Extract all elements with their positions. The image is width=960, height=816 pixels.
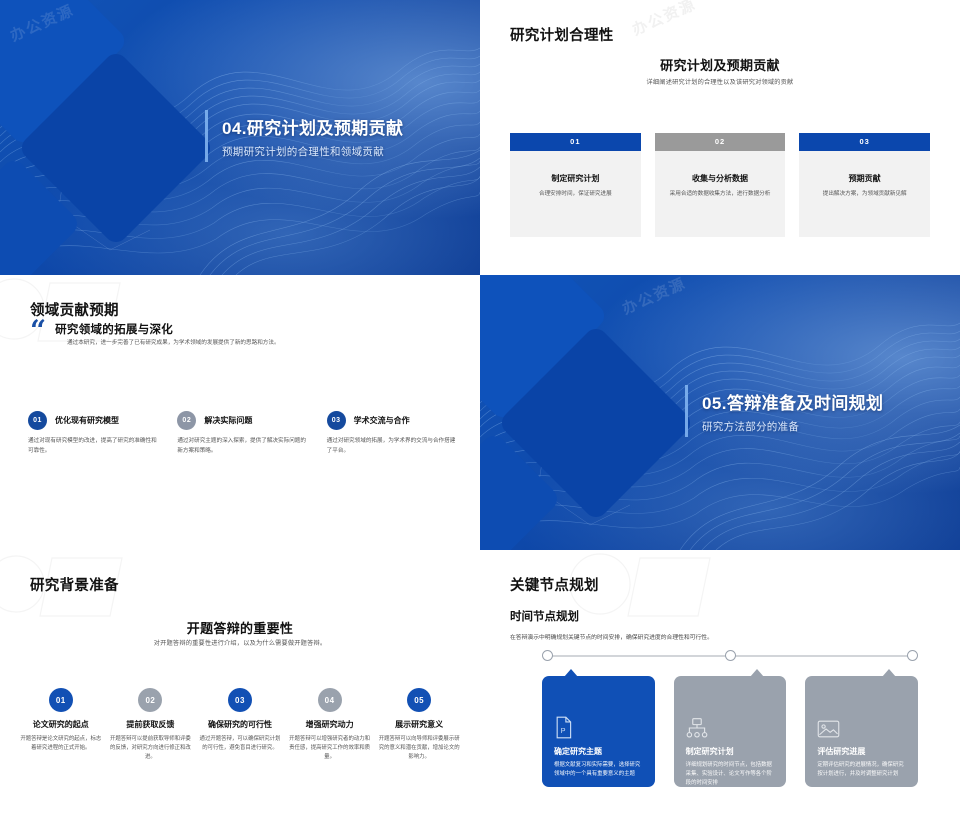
item-desc: 通过对研究主题的深入探索，提供了解决实际问题的新方案和策略。 (177, 437, 308, 457)
card-title: 预期贡献 (809, 173, 920, 184)
background-item[interactable]: 01 论文研究的起点 开题答辩是论文研究的起点，标志着研究进程的正式开始。 (20, 688, 102, 763)
item-number-badge: 05 (407, 688, 431, 712)
quote-block: “ 研究领域的拓展与深化 (30, 321, 173, 341)
page-kicker: 研究背景准备 (30, 574, 119, 595)
hierarchy-icon (686, 709, 775, 739)
card-desc: 根据文献复习和实际需要，选择研究领域中的一个具有重要意义的主题 (554, 761, 643, 779)
plan-card[interactable]: 01 制定研究计划 合理安排时间，保证研究进展 (510, 133, 641, 237)
card-desc: 详细规划研究的时间节点，包括数据采集、实验设计、论文写作等各个阶段的时间安排 (686, 761, 775, 788)
item-desc: 通过对研究领域的拓展，为学术界的交流与合作搭建了平台。 (327, 437, 458, 457)
item-head: 03 学术交流与合作 (327, 411, 458, 430)
card-desc: 合理安排时间，保证研究进展 (520, 190, 631, 198)
contribution-item-list: 01 优化现有研究模型 通过对现有研究模型的改进，提高了研究的准确性和可靠性。 … (28, 411, 458, 457)
item-desc: 开题答辩可以增强研究者的动力和责任感，提高研究工作的效率和质量。 (289, 735, 371, 763)
background-item-list: 01 论文研究的起点 开题答辩是论文研究的起点，标志着研究进程的正式开始。 02… (20, 688, 460, 763)
item-title: 展示研究意义 (378, 719, 460, 730)
card-desc: 提出解决方案，为领域贡献新见解 (809, 190, 920, 198)
timeline-card[interactable]: 评估研究进展 定期评估研究的进展情况，确保研究按计划进行，并及时调整研究计划 (805, 676, 918, 787)
image-icon (817, 709, 906, 739)
slide-key-milestones: 关键节点规划 时间节点规划 在答辩演示中明确规划关键节点的时间安排，确保研究进度… (480, 550, 960, 816)
card-pointer (564, 669, 578, 677)
item-desc: 开题答辩可以向导师和评委展示研究的意义和潜在贡献，增加论文的影响力。 (378, 735, 460, 763)
cover-title: 04.研究计划及预期贡献 (222, 114, 403, 139)
card-title: 制定研究计划 (520, 173, 631, 184)
cover-title-block: 04.研究计划及预期贡献 预期研究计划的合理性和领域贡献 (222, 114, 403, 159)
cover-title-block: 05.答辩准备及时间规划 研究方法部分的准备 (702, 389, 883, 434)
item-title: 增强研究动力 (289, 719, 371, 730)
item-title: 解决实际问题 (204, 415, 252, 426)
item-title: 学术交流与合作 (354, 415, 410, 426)
item-head: 02 解决实际问题 (177, 411, 308, 430)
page-subtitle: 在答辩演示中明确规划关键节点的时间安排，确保研究进度的合理性和可行性。 (510, 632, 713, 641)
card-number: 03 (799, 133, 930, 151)
item-desc: 通过对现有研究模型的改进，提高了研究的准确性和可靠性。 (28, 437, 159, 457)
timeline-card[interactable]: 制定研究计划 详细规划研究的时间节点，包括数据采集、实验设计、论文写作等各个阶段… (674, 676, 787, 787)
card-number: 01 (510, 133, 641, 151)
page-kicker: 研究计划合理性 (510, 24, 614, 45)
card-body: 制定研究计划 合理安排时间，保证研究进展 (510, 151, 641, 237)
timeline-dot[interactable] (542, 650, 553, 661)
page-kicker: 关键节点规划 (510, 574, 599, 595)
card-desc: 定期评估研究的进展情况，确保研究按计划进行，并及时调整研究计划 (817, 761, 906, 779)
card-title: 评估研究进展 (817, 746, 906, 757)
card-body: 收集与分析数据 采用合适的数据收集方法，进行数据分析 (655, 151, 786, 237)
plan-card[interactable]: 03 预期贡献 提出解决方案，为领域贡献新见解 (799, 133, 930, 237)
page-subtitle: 详细阐述研究计划的合理性以及该研究对领域的贡献 (480, 77, 960, 86)
page-title: 开题答辩的重要性 (0, 618, 480, 637)
page-title: 研究计划及预期贡献 (480, 55, 960, 74)
item-desc: 开题答辩是论文研究的起点，标志着研究进程的正式开始。 (20, 735, 102, 753)
watermark: 办公资源 (629, 0, 700, 40)
slide-research-plan: 办公资源 研究计划合理性 研究计划及预期贡献 详细阐述研究计划的合理性以及该研究… (480, 0, 960, 275)
slide-cover-04: 办公资源 04.研究计划及预期贡献 预期研究计划的合理性和领域贡献 (0, 0, 480, 275)
item-number-badge: 01 (49, 688, 73, 712)
slide-deck: 办公资源 04.研究计划及预期贡献 预期研究计划的合理性和领域贡献 办公资源 研… (0, 0, 960, 816)
item-number-badge: 04 (318, 688, 342, 712)
document-p-icon: P (554, 709, 643, 739)
quote-title: 研究领域的拓展与深化 (55, 321, 173, 337)
quote-icon: “ (30, 321, 46, 341)
item-number-badge: 02 (138, 688, 162, 712)
item-title: 优化现有研究模型 (55, 415, 119, 426)
item-number-badge: 03 (228, 688, 252, 712)
background-item[interactable]: 04 增强研究动力 开题答辩可以增强研究者的动力和责任感，提高研究工作的效率和质… (289, 688, 371, 763)
card-title: 确定研究主题 (554, 746, 643, 757)
page-subtitle: 对开题答辩的重要性进行介绍，以及为什么需要做开题答辩。 (0, 638, 480, 647)
plan-card-list: 01 制定研究计划 合理安排时间，保证研究进展 02 收集与分析数据 采用合适的… (510, 133, 930, 237)
item-title: 论文研究的起点 (20, 719, 102, 730)
slide-research-background: 研究背景准备 开题答辩的重要性 对开题答辩的重要性进行介绍，以及为什么需要做开题… (0, 550, 480, 816)
background-item[interactable]: 05 展示研究意义 开题答辩可以向导师和评委展示研究的意义和潜在贡献，增加论文的… (378, 688, 460, 763)
quote-description: 通过本研究，进一步完善了已有研究成果，为学术领域的发展提供了新的思路和方法。 (67, 339, 282, 349)
card-body: 预期贡献 提出解决方案，为领域贡献新见解 (799, 151, 930, 237)
slide-cover-05: 办公资源 05.答辩准备及时间规划 研究方法部分的准备 (480, 275, 960, 550)
item-number-badge: 02 (177, 411, 196, 430)
cover-subtitle: 研究方法部分的准备 (702, 419, 883, 434)
item-number-badge: 03 (327, 411, 346, 430)
item-head: 01 优化现有研究模型 (28, 411, 159, 430)
title-accent-bar (685, 385, 688, 437)
contribution-item[interactable]: 02 解决实际问题 通过对研究主题的深入探索，提供了解决实际问题的新方案和策略。 (177, 411, 308, 457)
item-desc: 通过开题答辩，可以确保研究计划的可行性，避免盲目进行研究。 (199, 735, 281, 753)
card-title: 制定研究计划 (686, 746, 775, 757)
card-pointer (882, 669, 896, 677)
page-title: 时间节点规划 (510, 608, 579, 624)
item-title: 提前获取反馈 (110, 719, 192, 730)
slide-field-contribution: 领域贡献预期 “ 研究领域的拓展与深化 通过本研究，进一步完善了已有研究成果，为… (0, 275, 480, 550)
svg-text:P: P (561, 727, 566, 735)
contribution-item[interactable]: 01 优化现有研究模型 通过对现有研究模型的改进，提高了研究的准确性和可靠性。 (28, 411, 159, 457)
card-desc: 采用合适的数据收集方法，进行数据分析 (665, 190, 776, 198)
timeline-dot[interactable] (725, 650, 736, 661)
card-number: 02 (655, 133, 786, 151)
card-pointer (750, 669, 764, 677)
plan-card[interactable]: 02 收集与分析数据 采用合适的数据收集方法，进行数据分析 (655, 133, 786, 237)
background-item[interactable]: 02 提前获取反馈 开题答辩可以提前获取导师和评委的反馈，对研究方向进行修正和改… (110, 688, 192, 763)
title-accent-bar (205, 110, 208, 162)
timeline-card[interactable]: P 确定研究主题 根据文献复习和实际需要，选择研究领域中的一个具有重要意义的主题 (542, 676, 655, 787)
background-item[interactable]: 03 确保研究的可行性 通过开题答辩，可以确保研究计划的可行性，避免盲目进行研究… (199, 688, 281, 763)
cover-title: 05.答辩准备及时间规划 (702, 389, 883, 414)
item-title: 确保研究的可行性 (199, 719, 281, 730)
timeline-dot-row (542, 650, 918, 661)
timeline-card-list: P 确定研究主题 根据文献复习和实际需要，选择研究领域中的一个具有重要意义的主题 (542, 676, 918, 787)
contribution-item[interactable]: 03 学术交流与合作 通过对研究领域的拓展，为学术界的交流与合作搭建了平台。 (327, 411, 458, 457)
timeline-dot[interactable] (907, 650, 918, 661)
cover-subtitle: 预期研究计划的合理性和领域贡献 (222, 144, 403, 159)
item-desc: 开题答辩可以提前获取导师和评委的反馈，对研究方向进行修正和改进。 (110, 735, 192, 763)
item-number-badge: 01 (28, 411, 47, 430)
card-title: 收集与分析数据 (665, 173, 776, 184)
